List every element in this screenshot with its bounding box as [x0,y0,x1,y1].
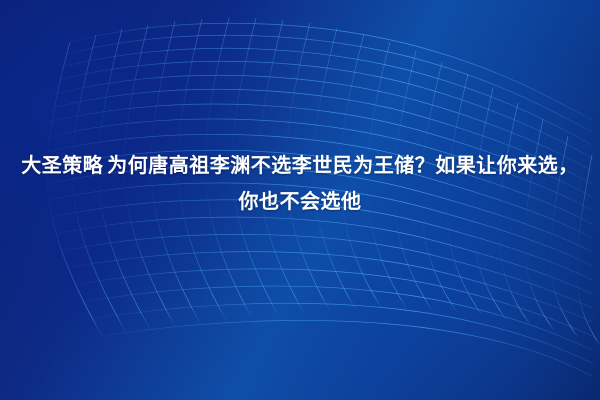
background-glow-right [220,40,600,400]
headline-text: 为何唐高祖李渊不选李世民为王储？如果让你来选，你也不会选他 [107,155,579,213]
page-title: 大圣策略为何唐高祖李渊不选李世民为王储？如果让你来选，你也不会选他 [0,148,600,220]
article-cover-banner: 大圣策略为何唐高祖李渊不选李世民为王储？如果让你来选，你也不会选他 [0,0,600,400]
brand-label: 大圣策略 [21,155,103,177]
